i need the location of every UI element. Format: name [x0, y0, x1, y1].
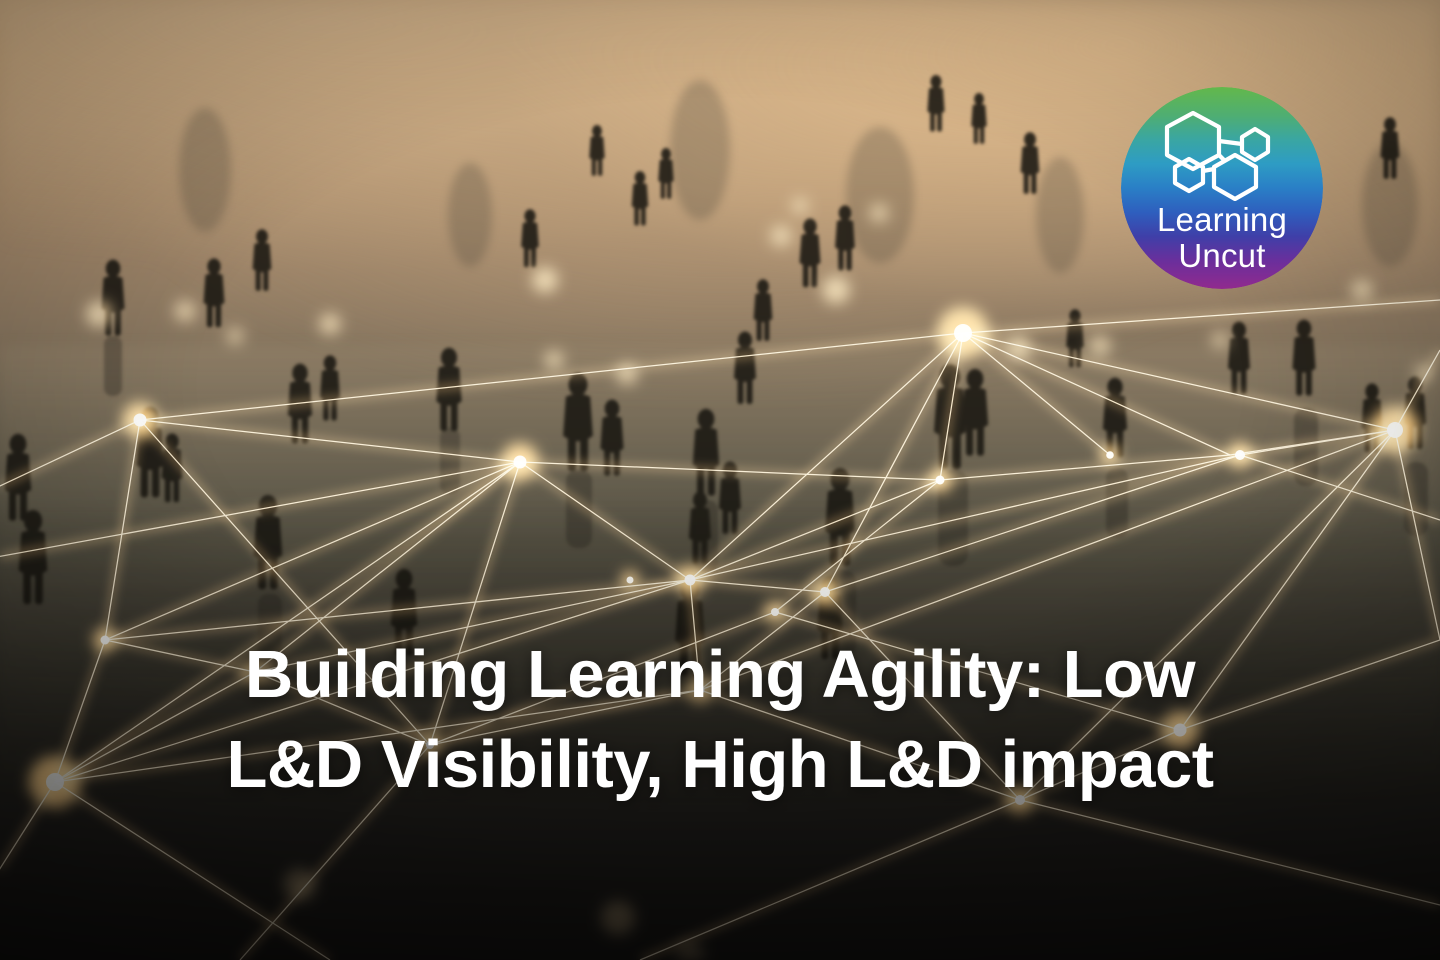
logo-wordmark: Learning Uncut	[1157, 203, 1287, 272]
logo-word-learning: Learning	[1157, 203, 1287, 236]
logo-word-uncut: Uncut	[1157, 239, 1287, 272]
episode-title-line-2: L&D Visibility, High L&D impact	[110, 720, 1330, 810]
episode-title: Building Learning Agility: Low L&D Visib…	[0, 630, 1440, 810]
learning-uncut-logo[interactable]: Learning Uncut	[1121, 87, 1323, 289]
episode-title-line-1: Building Learning Agility: Low	[110, 630, 1330, 720]
hexagon-network-icon	[1163, 109, 1281, 201]
episode-cover-image: Learning Uncut Building Learning Agility…	[0, 0, 1440, 960]
